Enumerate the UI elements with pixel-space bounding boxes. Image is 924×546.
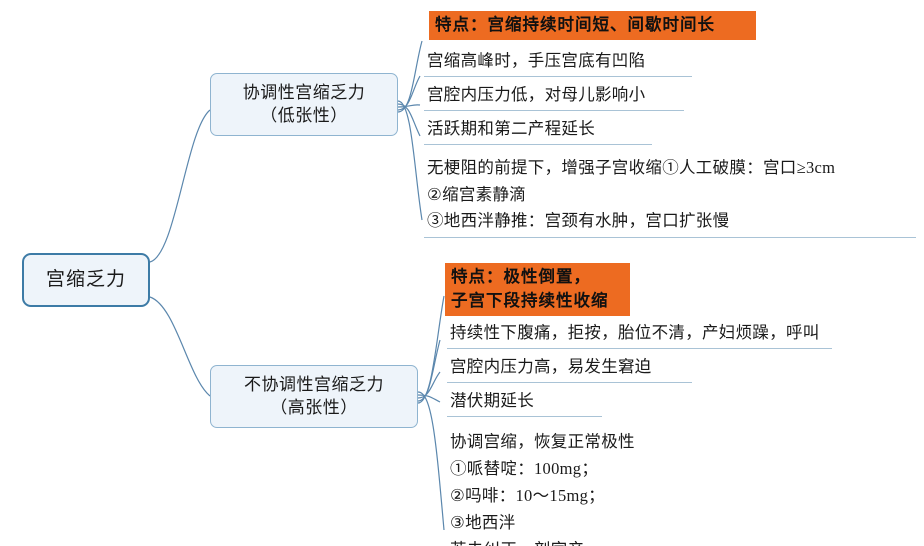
leaf-sign-2[interactable]: 宫腔内压力低，对母儿影响小 [424, 82, 684, 111]
leaf-treatment-2[interactable]: 协调宫缩，恢复正常极性 ①哌替啶：100mg； ②吗啡：10～15mg； ③地西… [447, 429, 689, 546]
leaf-sign-4[interactable]: 持续性下腹痛，拒按，胎位不清，产妇烦躁，呼叫 [447, 320, 832, 349]
connector-branch-2-leaf-1 [418, 296, 444, 403]
connector-branch-1-leaf-4 [398, 104, 420, 136]
branch-node-uncoordinated-inertia[interactable]: 不协调性宫缩乏力 （高张性） [210, 365, 418, 428]
connector-branch-2-leaf-2 [418, 340, 440, 401]
connector-branch-2-leaf-4 [418, 395, 440, 402]
connector-branch-1-leaf-3 [398, 105, 420, 107]
branch-node-coordinated-inertia[interactable]: 协调性宫缩乏力 （低张性） [210, 73, 398, 136]
leaf-feature-highlight-2[interactable]: 特点：极性倒置， 子宫下段持续性收缩 [445, 263, 630, 316]
leaf-sign-1[interactable]: 宫缩高峰时，手压宫底有凹陷 [424, 48, 692, 77]
root-node-uterine-inertia[interactable]: 宫缩乏力 [22, 253, 150, 307]
leaf-feature-highlight-1[interactable]: 特点：宫缩持续时间短、间歇时间长 [429, 11, 756, 40]
connector-branch-1-leaf-1 [398, 41, 422, 112]
connector-branch-2-leaf-3 [418, 372, 440, 398]
connector-branch-1-leaf-5 [398, 101, 422, 220]
connector-root-to-branch-1 [150, 110, 210, 262]
connector-root-to-branch-2 [150, 297, 210, 396]
leaf-sign-6[interactable]: 潜伏期延长 [447, 388, 602, 417]
connector-branch-2-leaf-5 [418, 392, 444, 530]
leaf-treatment-1[interactable]: 无梗阻的前提下，增强子宫收缩①人工破膜：宫口≥3cm ②缩宫素静滴 ③地西泮静推… [424, 155, 916, 238]
connector-branch-1-leaf-2 [398, 76, 420, 110]
leaf-sign-5[interactable]: 宫腔内压力高，易发生窘迫 [447, 354, 692, 383]
leaf-sign-3[interactable]: 活跃期和第二产程延长 [424, 116, 652, 145]
mindmap-canvas: 宫缩乏力 协调性宫缩乏力 （低张性） 特点：宫缩持续时间短、间歇时间长 宫缩高峰… [0, 0, 924, 546]
